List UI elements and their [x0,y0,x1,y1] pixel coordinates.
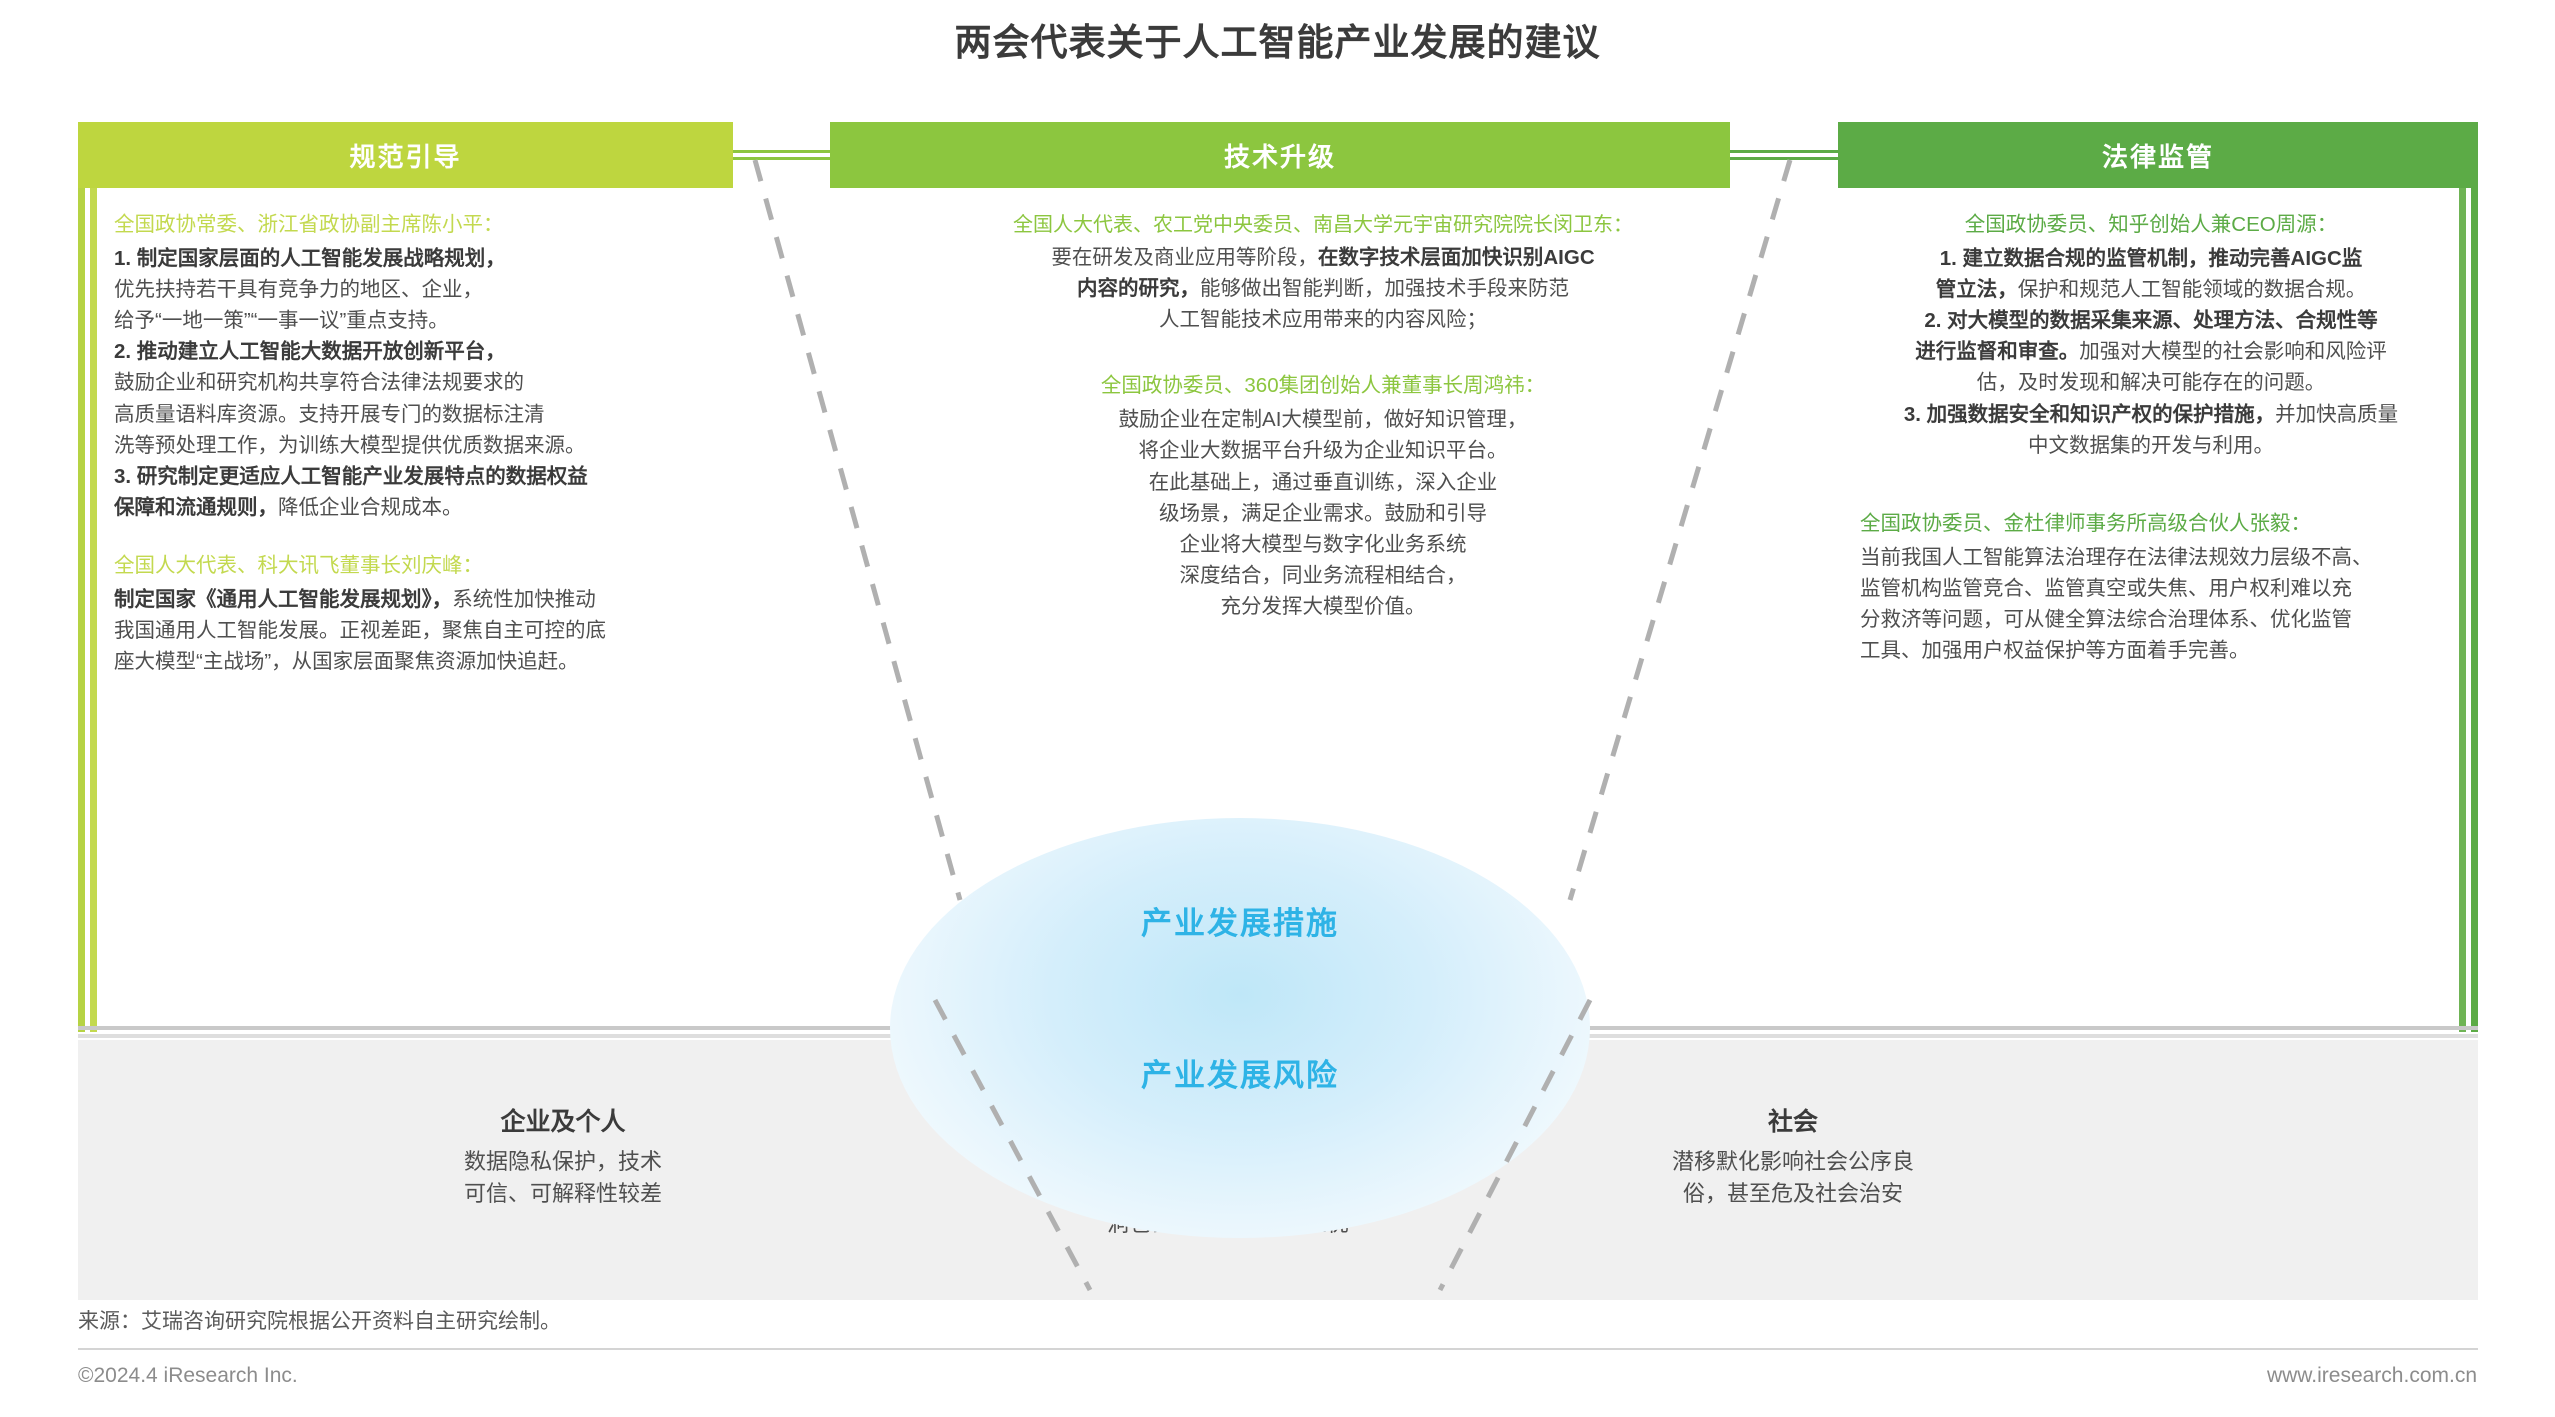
tab-tech-upgrade-label: 技术升级 [1224,137,1336,174]
line-2: 我国通用人工智能发展。正视差距，聚焦自主可控的底 [114,619,606,642]
risk-desc-line-1: 数据隐私保护，技术 [464,1149,662,1174]
quote-block-liu-qingfeng: 全国人大代表、科大讯飞董事长刘庆峰： 制定国家《通用人工智能发展规划》，系统性加… [114,551,786,677]
line-5: 企业将大模型与数字化业务系统 [1180,533,1467,556]
risk-desc-line-1: 系统复杂性加剧的同时漏 [1107,1179,1349,1204]
line-6: 高质量语料库资源。支持开展专门的数据标注清 [114,403,545,426]
speaker-name-chen-xiaoping: 全国政协常委、浙江省政协副主席陈小平： [114,210,786,241]
line-4: 工具、加强用户权益保护等方面着手完善。 [1860,639,2250,662]
tab-legal-regulation[interactable]: 法律监管 [1838,122,2478,188]
quote-text-min-weidong: 要在研发及商业应用等阶段，在数字技术层面加快识别AIGC 内容的研究，能够做出智… [832,242,1814,335]
column-guidance: 全国政协常委、浙江省政协副主席陈小平： 1. 制定国家层面的人工智能发展战略规划… [100,188,800,1032]
line-1: 要在研发及商业应用等阶段，在数字技术层面加快识别AIGC [1051,246,1594,269]
risk-desc: 系统复杂性加剧的同时漏 洞也会增加，安全性堪忧 [998,1176,1458,1240]
speaker-name-zhang-yi: 全国政协委员、金杜律师事务所高级合伙人张毅： [1860,509,2442,540]
line-9: 保障和流通规则，降低企业合规成本。 [114,496,463,519]
main-content-frame: 规范引导 技术升级 法律监管 全国政协常委、浙江省政协副主席陈小平： 1. 制定… [78,122,2478,1032]
line-5: 估，及时发现和解决可能存在的问题。 [1977,371,2326,394]
risk-title: 系统自身 [998,1132,1458,1168]
tab-guidance[interactable]: 规范引导 [78,122,733,188]
line-3: 在此基础上，通过垂直训练，深入企业 [1149,471,1498,494]
line-3: 分救济等问题，可从健全算法综合治理体系、优化监管 [1860,608,2352,631]
quote-block-zhou-hongyi: 全国政协委员、360集团创始人兼董事长周鸿祎： 鼓励企业在定制AI大模型前，做好… [832,371,1814,622]
venn-label-measures: 产业发展措施 [890,898,1590,943]
risk-item-enterprise-individual: 企业及个人 数据隐私保护，技术 可信、可解释性较差 [348,1102,778,1210]
quote-block-chen-xiaoping: 全国政协常委、浙江省政协副主席陈小平： 1. 制定国家层面的人工智能发展战略规划… [114,210,786,523]
copyright-text: ©2024.4 iResearch Inc. [78,1364,298,1388]
quote-text-liu-qingfeng: 制定国家《通用人工智能发展规划》，系统性加快推动 我国通用人工智能发展。正视差距… [114,584,786,677]
line-7: 充分发挥大模型价值。 [1221,595,1426,618]
line-5: 鼓励企业和研究机构共享符合法律法规要求的 [114,371,524,394]
line-3: 2. 对大模型的数据采集来源、处理方法、合规性等 [1924,309,2377,332]
line-4: 级场景，满足企业需求。鼓励和引导 [1159,502,1487,525]
quote-block-zhang-yi: 全国政协委员、金杜律师事务所高级合伙人张毅： 当前我国人工智能算法治理存在法律法… [1860,509,2442,666]
risk-title: 社会 [1578,1102,2008,1138]
line-2: 将企业大数据平台升级为企业知识平台。 [1139,439,1508,462]
line-4: 2. 推动建立人工智能大数据开放创新平台， [114,340,506,363]
line-8: 3. 研究制定更适应人工智能产业发展特点的数据权益 [114,465,588,488]
line-1: 1. 建立数据合规的监管机制，推动完善AIGC监 [1940,247,2363,270]
risk-band-divider-bottom [78,1034,2478,1038]
speaker-name-min-weidong: 全国人大代表、农工党中央委员、南昌大学元宇宙研究院院长闵卫东： [832,210,1814,240]
speaker-name-zhou-hongyi: 全国政协委员、360集团创始人兼董事长周鸿祎： [832,371,1814,402]
quote-text-chen-xiaoping: 1. 制定国家层面的人工智能发展战略规划， 优先扶持若干具有竞争力的地区、企业，… [114,243,786,523]
quote-block-zhou-yuan: 全国政协委员、知乎创始人兼CEO周源： 1. 建立数据合规的监管机制，推动完善A… [1860,210,2442,461]
website-url: www.iresearch.com.cn [2267,1364,2477,1388]
tab-connector-1 [733,150,830,160]
line-2: 优先扶持若干具有竞争力的地区、企业， [114,278,483,301]
venn-label-risks: 产业发展风险 [890,1050,1590,1095]
speaker-name-zhou-yuan: 全国政协委员、知乎创始人兼CEO周源： [1860,210,2442,241]
risk-item-system: 系统自身 系统复杂性加剧的同时漏 洞也会增加，安全性堪忧 [998,1132,1458,1240]
quote-text-zhou-hongyi: 鼓励企业在定制AI大模型前，做好知识管理， 将企业大数据平台升级为企业知识平台。… [832,404,1814,622]
line-7: 中文数据集的开发与利用。 [2028,434,2274,457]
risk-desc: 数据隐私保护，技术 可信、可解释性较差 [348,1146,778,1210]
line-3: 人工智能技术应用带来的内容风险； [1159,308,1487,331]
tab-guidance-label: 规范引导 [349,137,461,174]
risk-desc-line-2: 洞也会增加，安全性堪忧 [1107,1211,1349,1236]
risk-title: 企业及个人 [348,1102,778,1138]
left-accent-bar-inner [90,122,97,1032]
line-4: 进行监督和审查。加强对大模型的社会影响和风险评 [1915,340,2387,363]
line-6: 3. 加强数据安全和知识产权的保护措施，并加快高质量 [1904,403,2398,426]
right-accent-bar [2471,122,2478,1032]
page-title: 两会代表关于人工智能产业发展的建议 [0,12,2555,66]
quote-block-min-weidong: 全国人大代表、农工党中央委员、南昌大学元宇宙研究院院长闵卫东： 要在研发及商业应… [832,210,1814,335]
line-1: 鼓励企业在定制AI大模型前，做好知识管理， [1119,408,1528,431]
left-accent-bar [78,122,85,1032]
right-accent-bar-inner [2459,122,2466,1032]
line-3: 座大模型“主战场”，从国家层面聚焦资源加快追赶。 [114,650,579,673]
line-2: 内容的研究，能够做出智能判断，加强技术手段来防范 [1077,277,1569,300]
risk-item-society: 社会 潜移默化影响社会公序良 俗，甚至危及社会治安 [1578,1102,2008,1210]
tab-legal-regulation-label: 法律监管 [2102,137,2214,174]
category-tabs: 规范引导 技术升级 法律监管 [78,122,2478,188]
quote-text-zhou-yuan: 1. 建立数据合规的监管机制，推动完善AIGC监 管立法，保护和规范人工智能领域… [1860,243,2442,461]
source-note: 来源：艾瑞咨询研究院根据公开资料自主研究绘制。 [78,1305,561,1335]
line-1: 1. 制定国家层面的人工智能发展战略规划， [114,247,506,270]
line-1: 当前我国人工智能算法治理存在法律法规效力层级不高、 [1860,546,2373,569]
line-6: 深度结合，同业务流程相结合， [1180,564,1467,587]
quote-text-zhang-yi: 当前我国人工智能算法治理存在法律法规效力层级不高、 监管机构监管竞合、监管真空或… [1860,542,2442,667]
risk-band-divider-top [78,1026,2478,1030]
risk-desc: 潜移默化影响社会公序良 俗，甚至危及社会治安 [1578,1146,2008,1210]
line-2: 监管机构监管竞合、监管真空或失焦、用户权利难以充 [1860,577,2352,600]
line-1: 制定国家《通用人工智能发展规划》，系统性加快推动 [114,588,596,611]
risk-desc-line-2: 俗，甚至危及社会治安 [1683,1181,1903,1206]
line-3: 给予“一地一策”“一事一议”重点支持。 [114,309,449,332]
line-2: 管立法，保护和规范人工智能领域的数据合规。 [1936,278,2367,301]
risk-desc-line-1: 潜移默化影响社会公序良 [1672,1149,1914,1174]
footer-divider [78,1348,2478,1350]
tab-connector-2 [1730,150,1838,160]
column-legal-regulation: 全国政协委员、知乎创始人兼CEO周源： 1. 建立数据合规的监管机制，推动完善A… [1846,188,2456,1032]
tab-tech-upgrade[interactable]: 技术升级 [830,122,1730,188]
risk-desc-line-2: 可信、可解释性较差 [464,1181,662,1206]
line-7: 洗等预处理工作，为训练大模型提供优质数据来源。 [114,434,586,457]
speaker-name-liu-qingfeng: 全国人大代表、科大讯飞董事长刘庆峰： [114,551,786,582]
